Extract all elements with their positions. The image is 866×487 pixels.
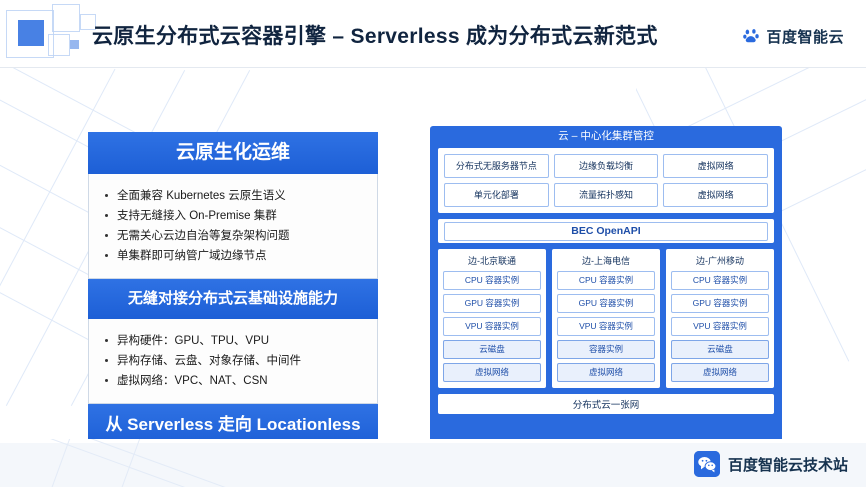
control-cell: 边缘负载均衡 bbox=[554, 154, 659, 178]
slide-root: 云原生分布式云容器引擎 – Serverless 成为分布式云新范式 百度智能云… bbox=[0, 0, 866, 487]
edge-region-title: 边-北京联通 bbox=[443, 254, 541, 267]
slide-footer: 百度智能云技术站 bbox=[0, 439, 866, 487]
edge-resource: VPU 容器实例 bbox=[557, 317, 655, 336]
edge-resource: 云磁盘 bbox=[443, 340, 541, 359]
edge-resource: GPU 容器实例 bbox=[557, 294, 655, 313]
edge-resource: 虚拟网络 bbox=[557, 363, 655, 382]
control-cell: 分布式无服务器节点 bbox=[444, 154, 549, 178]
list-item: 异构硬件：GPU、TPU、VPU bbox=[101, 331, 369, 351]
edge-resource: 虚拟网络 bbox=[671, 363, 769, 382]
edge-region: 边-北京联通 CPU 容器实例 GPU 容器实例 VPU 容器实例 云磁盘 虚拟… bbox=[438, 249, 546, 388]
list-item: 全面兼容 Kubernetes 云原生语义 bbox=[101, 186, 369, 206]
left-band-title-1: 云原生化运维 bbox=[88, 132, 378, 174]
left-panel-1: 全面兼容 Kubernetes 云原生语义 支持无缝接入 On-Premise … bbox=[88, 174, 378, 279]
wechat-official-account-icon bbox=[694, 451, 720, 477]
edge-regions: 边-北京联通 CPU 容器实例 GPU 容器实例 VPU 容器实例 云磁盘 虚拟… bbox=[438, 249, 774, 388]
left-panel-2: 异构硬件：GPU、TPU、VPU 异构存储、云盘、对象存储、中间件 虚拟网络：V… bbox=[88, 319, 378, 404]
brand-logo-text: 百度智能云 bbox=[766, 26, 844, 47]
header-divider bbox=[0, 67, 866, 68]
edge-resource: GPU 容器实例 bbox=[671, 294, 769, 313]
edge-resource: CPU 容器实例 bbox=[557, 271, 655, 290]
edge-region-title: 边-广州移动 bbox=[671, 254, 769, 267]
baidu-bear-icon bbox=[743, 28, 760, 45]
edge-resource: 云磁盘 bbox=[671, 340, 769, 359]
list-item: 虚拟网络：VPC、NAT、CSN bbox=[101, 371, 369, 391]
edge-resource: VPU 容器实例 bbox=[443, 317, 541, 336]
control-cell: 单元化部署 bbox=[444, 183, 549, 207]
control-cell: 流量拓扑感知 bbox=[554, 183, 659, 207]
brand-logo: 百度智能云 bbox=[743, 26, 844, 47]
page-title: 云原生分布式云容器引擎 – Serverless 成为分布式云新范式 bbox=[92, 20, 658, 50]
wechat-account: 百度智能云技术站 bbox=[694, 451, 848, 477]
control-cell: 虚拟网络 bbox=[663, 154, 768, 178]
edge-region: 边-广州移动 CPU 容器实例 GPU 容器实例 VPU 容器实例 云磁盘 虚拟… bbox=[666, 249, 774, 388]
list-item: 支持无缝接入 On-Premise 集群 bbox=[101, 206, 369, 226]
network-bottom-bar: 分布式云一张网 bbox=[438, 394, 774, 414]
edge-region: 边-上海电信 CPU 容器实例 GPU 容器实例 VPU 容器实例 容器实例 虚… bbox=[552, 249, 660, 388]
edge-region-title: 边-上海电信 bbox=[557, 254, 655, 267]
control-cell: 虚拟网络 bbox=[663, 183, 768, 207]
architecture-diagram: 云 – 中心化集群管控 分布式无服务器节点 边缘负载均衡 虚拟网络 单元化部署 … bbox=[430, 126, 782, 446]
list-item: 异构存储、云盘、对象存储、中间件 bbox=[101, 351, 369, 371]
openapi-label: BEC OpenAPI bbox=[444, 222, 769, 241]
edge-resource: 虚拟网络 bbox=[443, 363, 541, 382]
footer-decoration bbox=[0, 439, 300, 487]
edge-resource: 容器实例 bbox=[557, 340, 655, 359]
slide-header: 云原生分布式云容器引擎 – Serverless 成为分布式云新范式 百度智能云 bbox=[0, 0, 866, 68]
edge-resource: CPU 容器实例 bbox=[671, 271, 769, 290]
edge-resource: CPU 容器实例 bbox=[443, 271, 541, 290]
openapi-bar: BEC OpenAPI bbox=[438, 219, 774, 243]
footer-brand-text: 百度智能云技术站 bbox=[728, 454, 848, 475]
architecture-title: 云 – 中心化集群管控 bbox=[430, 126, 782, 146]
list-item: 单集群即可纳管广域边缘节点 bbox=[101, 246, 369, 266]
edge-resource: GPU 容器实例 bbox=[443, 294, 541, 313]
left-band-title-2: 无缝对接分布式云基础设施能力 bbox=[88, 279, 378, 319]
left-feature-column: 云原生化运维 全面兼容 Kubernetes 云原生语义 支持无缝接入 On-P… bbox=[88, 132, 378, 446]
control-plane-box: 分布式无服务器节点 边缘负载均衡 虚拟网络 单元化部署 流量拓扑感知 虚拟网络 bbox=[438, 148, 774, 213]
list-item: 无需关心云边自治等复杂架构问题 bbox=[101, 226, 369, 246]
edge-resource: VPU 容器实例 bbox=[671, 317, 769, 336]
